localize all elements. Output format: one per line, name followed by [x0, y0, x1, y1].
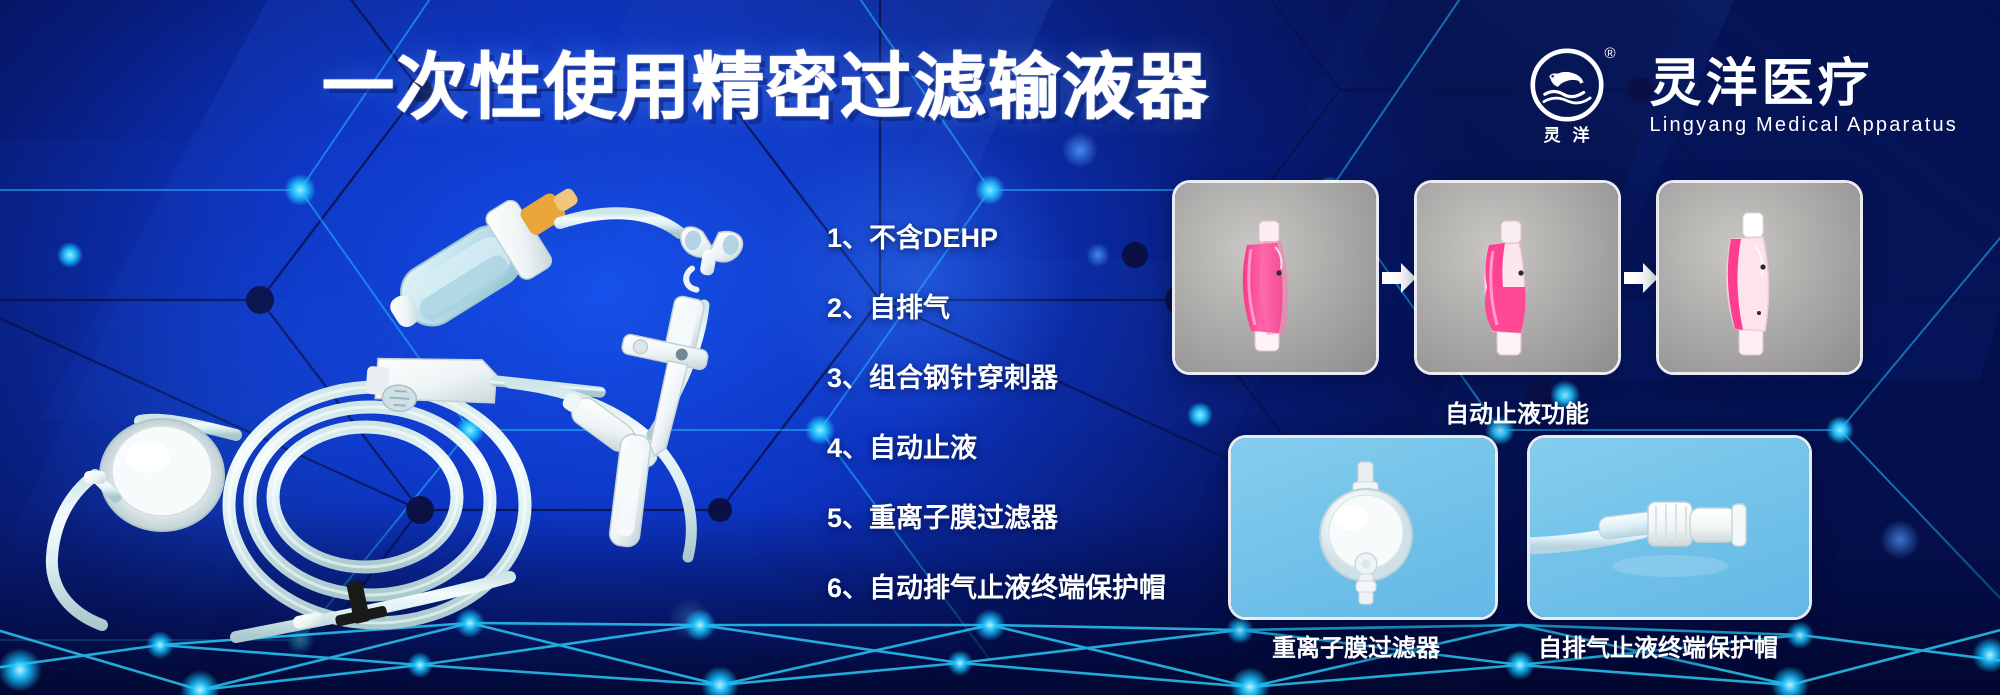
brand-name-cn: 灵洋医疗: [1650, 57, 1958, 112]
list-item: 2、自排气: [827, 295, 1207, 322]
logo-divider: [1626, 58, 1628, 134]
registered-trademark-icon: ®: [1604, 46, 1615, 61]
product-banner: 一次性使用精密过滤输液器 ® 灵洋 灵洋医疗 Lingyang Medica: [0, 0, 2000, 695]
logo-mark-caption: 灵洋: [1532, 127, 1602, 144]
list-item: 1、不含DEHP: [827, 225, 1207, 252]
page-title: 一次性使用精密过滤输液器: [322, 52, 1210, 124]
brand-name-group: 灵洋医疗 Lingyang Medical Apparatus: [1650, 57, 1958, 136]
feature-list: 1、不含DEHP 2、自排气 3、组合钢针穿刺器 4、自动止液 5、重离子膜过滤…: [827, 225, 1207, 602]
list-item: 6、自动排气止液终端保护帽: [827, 575, 1207, 602]
brand-logo[interactable]: ® 灵洋 灵洋医疗 Lingyang Medical Apparatus: [1530, 48, 1958, 144]
detail-photo-cap[interactable]: [1527, 435, 1812, 620]
sequence-caption: 自动止液功能: [1445, 394, 1589, 429]
product-photo: [40, 185, 800, 655]
right-arrow-icon: [1624, 263, 1658, 293]
detail-caption-filter: 重离子膜过滤器: [1272, 628, 1440, 663]
list-item: 5、重离子膜过滤器: [827, 505, 1207, 532]
detail-caption-cap: 自排气止液终端保护帽: [1538, 628, 1778, 663]
right-arrow-icon: [1382, 263, 1416, 293]
logo-mark-group: ® 灵洋: [1530, 48, 1604, 144]
lingyang-wave-circle-logo-icon: ®: [1530, 48, 1604, 122]
sequence-photo-2[interactable]: [1414, 180, 1621, 375]
list-item: 4、自动止液: [827, 435, 1207, 462]
list-item: 3、组合钢针穿刺器: [827, 365, 1207, 392]
detail-photo-filter[interactable]: [1228, 435, 1498, 620]
brand-name-en: Lingyang Medical Apparatus: [1650, 115, 1958, 135]
sequence-photo-3[interactable]: [1656, 180, 1863, 375]
sequence-photo-1[interactable]: [1172, 180, 1379, 375]
